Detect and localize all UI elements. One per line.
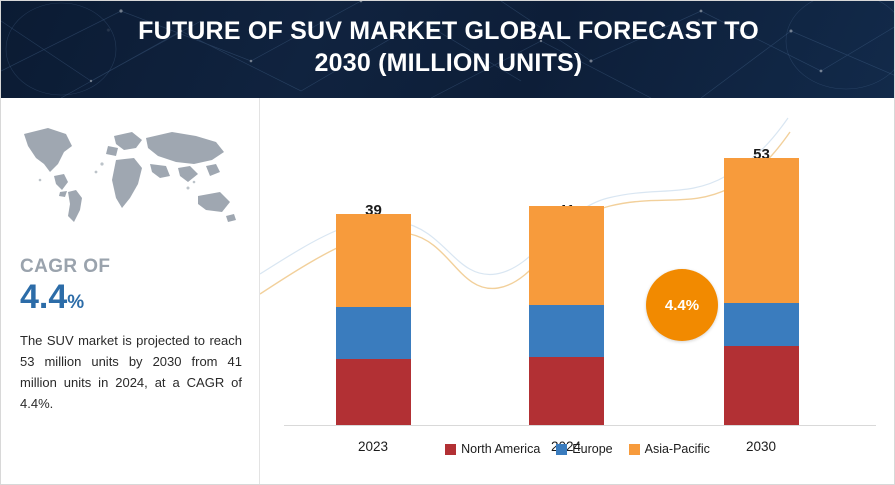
bar-stack-2030 — [724, 158, 799, 426]
cagr-bubble-annotation: 4.4% — [646, 269, 718, 341]
legend-item-europe[interactable]: Europe — [556, 442, 612, 456]
cagr-number: 4.4 — [20, 278, 67, 316]
legend-item-north-america[interactable]: North America — [445, 442, 540, 456]
summary-description: The SUV market is projected to reach 53 … — [20, 330, 242, 414]
bar-segment-north-america — [529, 357, 604, 426]
bar-stack-2024 — [529, 206, 604, 426]
infographic-page: FUTURE OF SUV MARKET GLOBAL FORECAST TO … — [0, 0, 895, 485]
bar-segment-asia-pacific — [724, 158, 799, 303]
bar-segment-north-america — [336, 359, 411, 426]
cagr-value: 4.4% — [20, 278, 84, 322]
chart-legend: North America Europe Asia-Pacific — [260, 436, 895, 462]
legend-swatch-north-america — [445, 444, 456, 455]
legend-swatch-asia-pacific — [629, 444, 640, 455]
legend-item-asia-pacific[interactable]: Asia-Pacific — [629, 442, 710, 456]
header-banner: FUTURE OF SUV MARKET GLOBAL FORECAST TO … — [1, 1, 895, 98]
left-info-panel: CAGR OF 4.4% The SUV market is projected… — [2, 98, 260, 484]
bar-segment-asia-pacific — [529, 206, 604, 305]
legend-label-asia-pacific: Asia-Pacific — [645, 442, 710, 456]
bar-segment-europe — [529, 305, 604, 357]
bar-segment-europe — [336, 307, 411, 359]
legend-label-europe: Europe — [572, 442, 612, 456]
cagr-percent-symbol: % — [67, 292, 84, 313]
legend-label-north-america: North America — [461, 442, 540, 456]
bars-plot: 39 2023 41 2024 53 2030 — [284, 106, 879, 426]
bar-segment-europe — [724, 303, 799, 346]
legend-swatch-europe — [556, 444, 567, 455]
chart-area: 39 2023 41 2024 53 2030 — [260, 98, 895, 484]
bar-segment-asia-pacific — [336, 214, 411, 307]
cagr-label: CAGR OF — [20, 256, 110, 278]
bar-segment-north-america — [724, 346, 799, 426]
bar-stack-2023 — [336, 214, 411, 426]
x-axis-line — [284, 425, 876, 426]
world-map-icon — [10, 112, 252, 232]
page-title: FUTURE OF SUV MARKET GLOBAL FORECAST TO … — [1, 1, 895, 79]
